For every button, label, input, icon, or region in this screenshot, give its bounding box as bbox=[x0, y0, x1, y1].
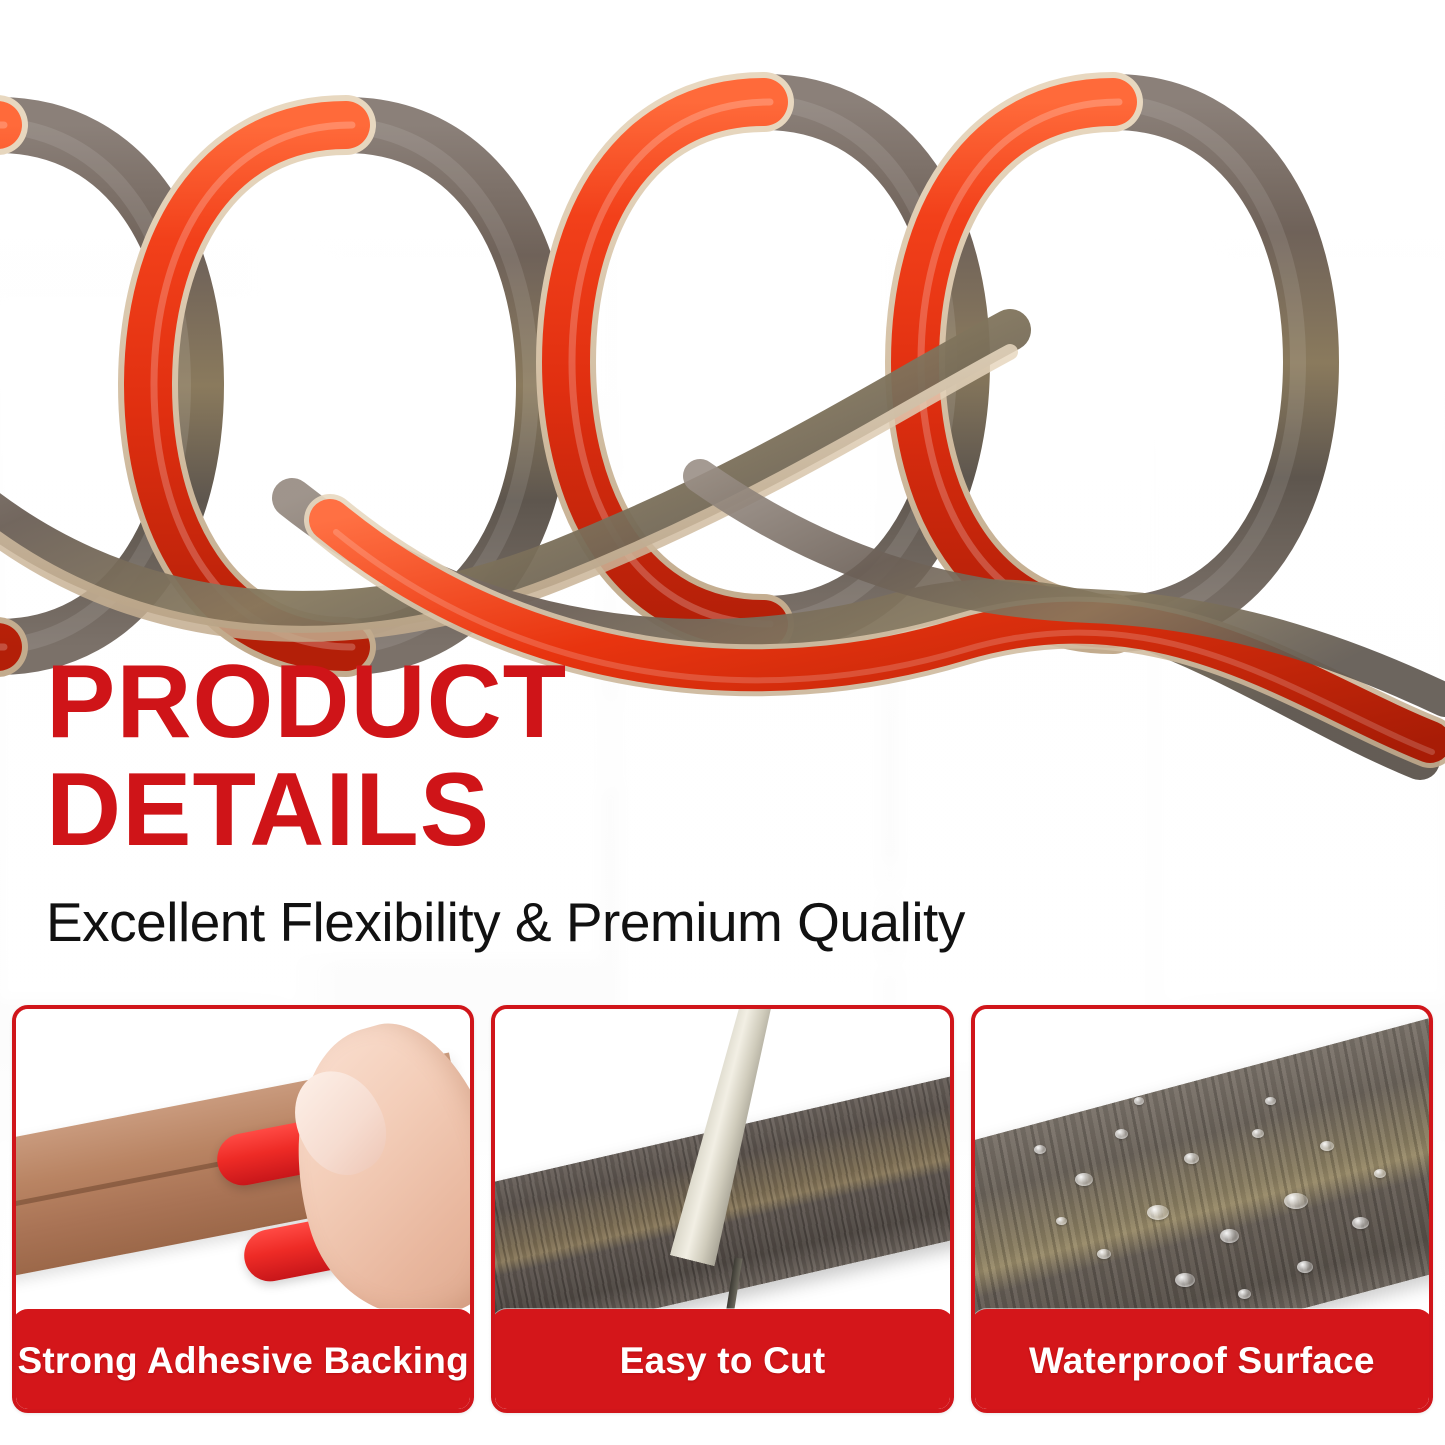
water-droplet bbox=[1265, 1097, 1276, 1105]
water-droplet bbox=[1374, 1169, 1386, 1178]
feature-caption-label: Strong Adhesive Backing bbox=[17, 1340, 468, 1382]
feature-caption-bar: Waterproof Surface bbox=[971, 1309, 1433, 1413]
water-droplet bbox=[1097, 1249, 1111, 1259]
water-droplet bbox=[1220, 1229, 1239, 1243]
page-title-line-1: PRODUCT bbox=[46, 652, 1146, 754]
water-droplet bbox=[1352, 1217, 1369, 1229]
water-droplet bbox=[1034, 1145, 1046, 1154]
headline-block: PRODUCT DETAILS Excellent Flexibility & … bbox=[46, 652, 1146, 952]
water-droplet bbox=[1238, 1289, 1251, 1299]
feature-caption-label: Easy to Cut bbox=[620, 1340, 826, 1382]
product-details-infographic: PRODUCT DETAILS Excellent Flexibility & … bbox=[0, 0, 1445, 1445]
page-title-line-2: DETAILS bbox=[46, 760, 1146, 862]
feature-panel-easy-to-cut[interactable]: Easy to Cut bbox=[491, 1005, 953, 1413]
water-droplet bbox=[1056, 1217, 1067, 1225]
water-droplet bbox=[1175, 1273, 1195, 1287]
water-droplet bbox=[1115, 1129, 1128, 1139]
water-droplet bbox=[1147, 1205, 1169, 1220]
feature-panel-row: Strong Adhesive Backing Easy to Cut bbox=[12, 1005, 1433, 1413]
water-droplet bbox=[1252, 1129, 1264, 1138]
water-droplet bbox=[1284, 1193, 1308, 1209]
water-droplet bbox=[1075, 1173, 1093, 1186]
water-droplet bbox=[1297, 1261, 1313, 1273]
feature-caption-bar: Easy to Cut bbox=[491, 1309, 953, 1413]
water-droplet bbox=[1134, 1097, 1144, 1105]
feature-caption-bar: Strong Adhesive Backing bbox=[12, 1309, 474, 1413]
feature-caption-label: Waterproof Surface bbox=[1029, 1340, 1375, 1382]
feature-panel-waterproof-surface[interactable]: Waterproof Surface bbox=[971, 1005, 1433, 1413]
feature-panel-strong-adhesive-backing[interactable]: Strong Adhesive Backing bbox=[12, 1005, 474, 1413]
page-subtitle: Excellent Flexibility & Premium Quality bbox=[46, 894, 1146, 952]
water-droplet bbox=[1320, 1141, 1334, 1151]
water-droplet bbox=[1184, 1153, 1199, 1164]
